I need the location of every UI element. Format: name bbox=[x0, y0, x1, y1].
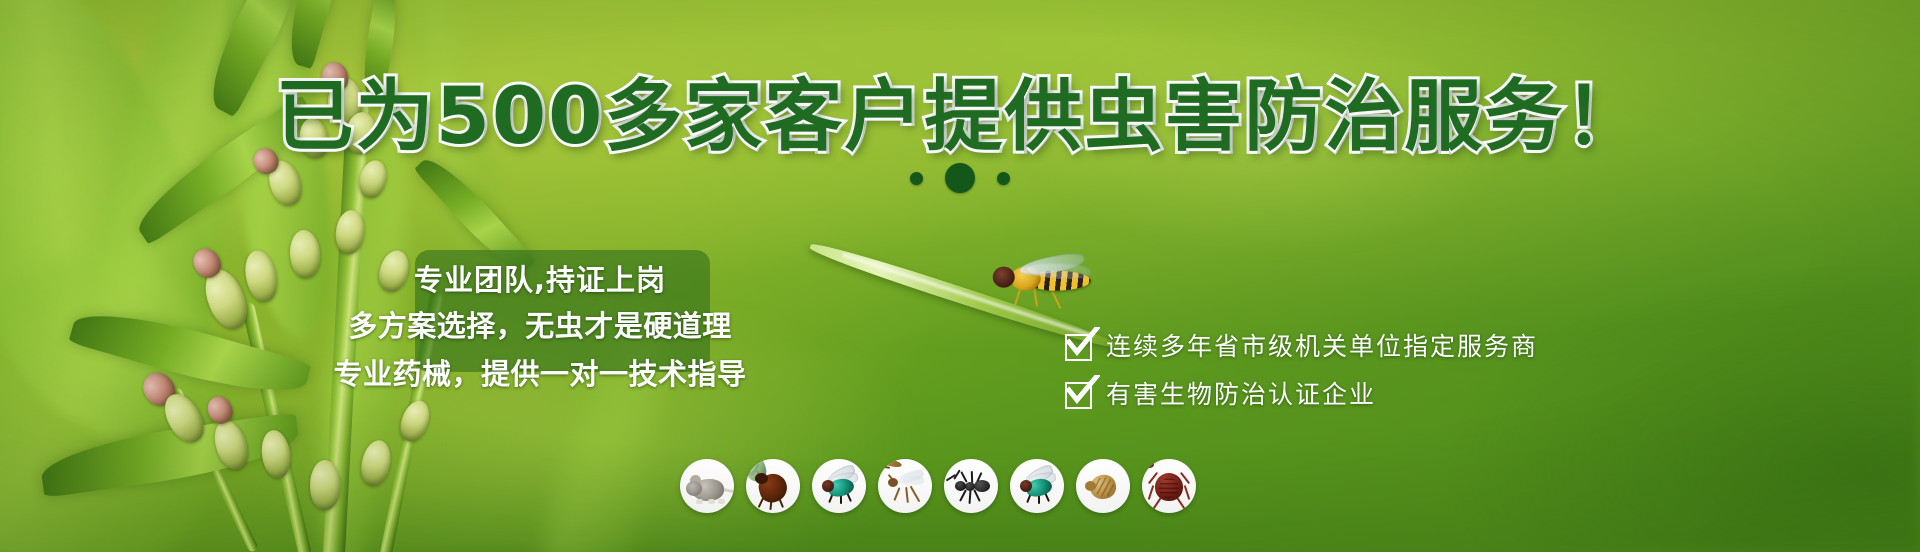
pest-bedbug-icon[interactable] bbox=[1142, 459, 1196, 513]
check-square-icon bbox=[1065, 334, 1092, 361]
feature-line-2: 多方案选择，无虫才是硬道理 bbox=[330, 302, 750, 350]
checklist-item: 有害生物防治认证企业 bbox=[1065, 381, 1705, 409]
feature-line-1: 专业团队,持证上岗 bbox=[330, 258, 750, 302]
pest-fly-icon[interactable] bbox=[1010, 459, 1064, 513]
pest-fly-icon[interactable] bbox=[812, 459, 866, 513]
dot-large-center bbox=[945, 163, 975, 193]
checklist-item: 连续多年省市级机关单位指定服务商 bbox=[1065, 333, 1705, 361]
decorative-dots bbox=[0, 163, 1920, 193]
promo-banner: 已为500多家客户提供虫害防治服务！ 专业团队,持证上岗 多方案选择，无虫才是硬… bbox=[0, 0, 1920, 552]
pest-mosquito-icon[interactable] bbox=[878, 459, 932, 513]
pest-cockroach-icon[interactable] bbox=[746, 459, 800, 513]
pest-ant-icon[interactable] bbox=[944, 459, 998, 513]
dot-small-right bbox=[997, 172, 1010, 185]
feature-panel-text: 专业团队,持证上岗 多方案选择，无虫才是硬道理 专业药械，提供一对一技术指导 bbox=[330, 258, 750, 398]
check-square-icon bbox=[1065, 382, 1092, 409]
hoverfly-icon bbox=[985, 255, 1105, 317]
checklist-item-label: 连续多年省市级机关单位指定服务商 bbox=[1106, 333, 1538, 361]
feature-line-3: 专业药械，提供一对一技术指导 bbox=[330, 350, 750, 398]
dot-small-left bbox=[910, 172, 923, 185]
checklist-item-label: 有害生物防治认证企业 bbox=[1106, 381, 1376, 409]
pest-flea-icon[interactable] bbox=[1076, 459, 1130, 513]
pest-mouse-icon[interactable] bbox=[680, 459, 734, 513]
banner-headline: 已为500多家客户提供虫害防治服务！ bbox=[0, 78, 1920, 156]
credentials-checklist: 连续多年省市级机关单位指定服务商 有害生物防治认证企业 bbox=[1065, 333, 1705, 429]
pest-icon-strip bbox=[680, 459, 1196, 513]
banner-headline-text: 已为500多家客户提供虫害防治服务！ bbox=[276, 72, 1645, 162]
